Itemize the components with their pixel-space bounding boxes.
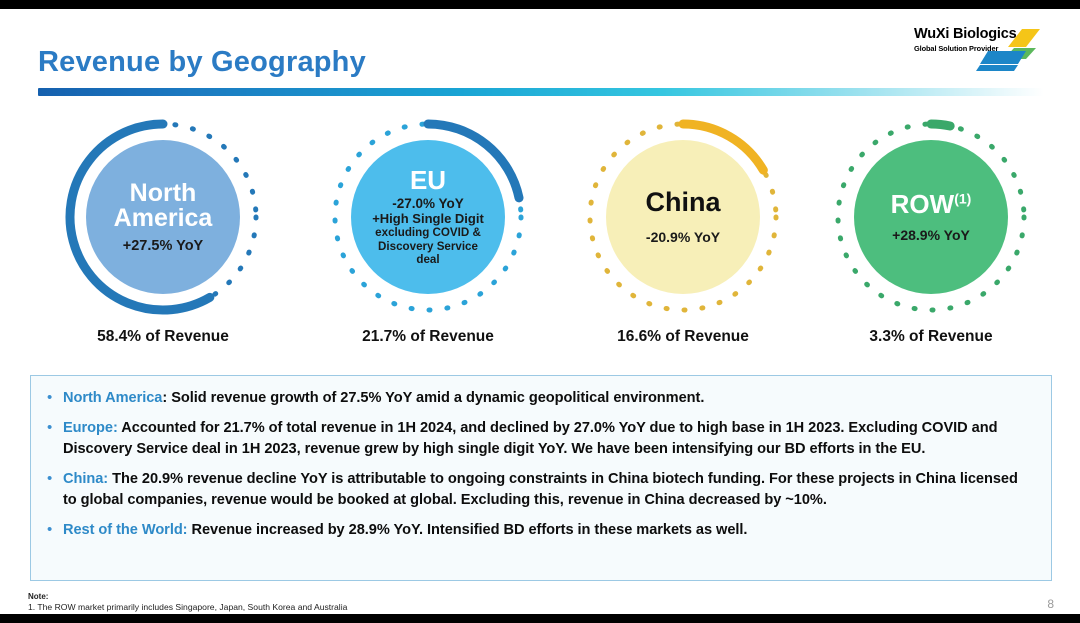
bullet-dot-icon: •: [47, 418, 63, 438]
bullet-body: Accounted for 21.7% of total revenue in …: [63, 420, 997, 457]
list-item: • Rest of the World: Revenue increased b…: [47, 520, 1031, 541]
bullet-dot-icon: •: [47, 388, 63, 408]
eu-note-line4: deal: [416, 253, 439, 266]
bullet-body: Revenue increased by 28.9% YoY. Intensif…: [188, 522, 748, 538]
north-america-label: North America: [114, 181, 213, 232]
row-caption: 3.3% of Revenue: [806, 328, 1056, 346]
china-yoy: -20.9% YoY: [646, 229, 720, 245]
logo-company-name: WuXi Biologics: [914, 27, 1054, 42]
bullet-dot-icon: •: [47, 469, 63, 489]
page-number: 8: [1047, 597, 1054, 611]
bullet-body: : Solid revenue growth of 27.5% YoY amid…: [162, 390, 704, 406]
row-disc: ROW(1) +28.9% YoY: [854, 140, 1008, 294]
slide: Revenue by Geography WuXi Biologics Glob…: [0, 0, 1080, 623]
row-label-superscript: (1): [954, 190, 971, 206]
bullet-text: China: The 20.9% revenue decline YoY is …: [63, 469, 1031, 511]
note-text: 1. The ROW market primarily includes Sin…: [28, 602, 347, 612]
geo-card-north-america: North America +27.5% YoY 58.4% of Revenu…: [38, 112, 288, 362]
eu-note-line3: Discovery Service: [378, 240, 478, 253]
row-yoy: +28.9% YoY: [892, 227, 970, 243]
china-caption: 16.6% of Revenue: [558, 328, 808, 346]
logo-tagline: Global Solution Provider: [914, 44, 1054, 53]
list-item: • China: The 20.9% revenue decline YoY i…: [47, 469, 1031, 511]
geography-circles: North America +27.5% YoY 58.4% of Revenu…: [0, 112, 1080, 362]
wuxi-biologics-logo: WuXi Biologics Global Solution Provider: [914, 27, 1054, 75]
row-label: ROW(1): [891, 191, 972, 218]
row-ring: ROW(1) +28.9% YoY: [826, 112, 1036, 322]
china-label: China: [645, 189, 720, 217]
bullet-body: The 20.9% revenue decline YoY is attribu…: [63, 471, 1018, 508]
bottom-border-bar: [0, 614, 1080, 623]
eu-note-line1: +High Single Digit: [372, 211, 484, 226]
bullet-lead: China:: [63, 471, 108, 487]
eu-disc: EU -27.0% YoY +High Single Digit excludi…: [351, 140, 505, 294]
top-border-bar: [0, 0, 1080, 9]
bullet-text: Europe: Accounted for 21.7% of total rev…: [63, 418, 1031, 460]
list-item: • Europe: Accounted for 21.7% of total r…: [47, 418, 1031, 460]
bullet-dot-icon: •: [47, 520, 63, 540]
bullet-text: North America: Solid revenue growth of 2…: [63, 388, 704, 409]
commentary-bullet-list: • North America: Solid revenue growth of…: [31, 376, 1051, 541]
eu-ring: EU -27.0% YoY +High Single Digit excludi…: [323, 112, 533, 322]
geo-card-eu: EU -27.0% YoY +High Single Digit excludi…: [303, 112, 553, 362]
north-america-yoy: +27.5% YoY: [123, 238, 203, 254]
china-ring: China -20.9% YoY: [578, 112, 788, 322]
page-title: Revenue by Geography: [38, 46, 366, 79]
bullet-lead: Europe:: [63, 420, 118, 436]
north-america-disc: North America +27.5% YoY: [86, 140, 240, 294]
eu-yoy: -27.0% YoY: [392, 196, 464, 212]
note-label: Note:: [28, 592, 48, 601]
eu-caption: 21.7% of Revenue: [303, 328, 553, 346]
bullet-lead: North America: [63, 390, 162, 406]
list-item: • North America: Solid revenue growth of…: [47, 388, 1031, 409]
geo-card-china: China -20.9% YoY 16.6% of Revenue: [558, 112, 808, 362]
commentary-box: • North America: Solid revenue growth of…: [30, 375, 1052, 581]
bullet-lead: Rest of the World:: [63, 522, 188, 538]
north-america-ring: North America +27.5% YoY: [58, 112, 268, 322]
row-label-text: ROW: [891, 189, 955, 219]
north-america-label-line2: America: [114, 204, 213, 232]
geo-card-row: ROW(1) +28.9% YoY 3.3% of Revenue: [806, 112, 1056, 362]
north-america-label-line1: North: [130, 179, 197, 207]
eu-label: EU: [410, 167, 446, 194]
title-gradient-rule: [38, 88, 1044, 96]
eu-note-line2: excluding COVID &: [375, 226, 481, 239]
china-disc: China -20.9% YoY: [606, 140, 760, 294]
north-america-caption: 58.4% of Revenue: [38, 328, 288, 346]
bullet-text: Rest of the World: Revenue increased by …: [63, 520, 747, 541]
